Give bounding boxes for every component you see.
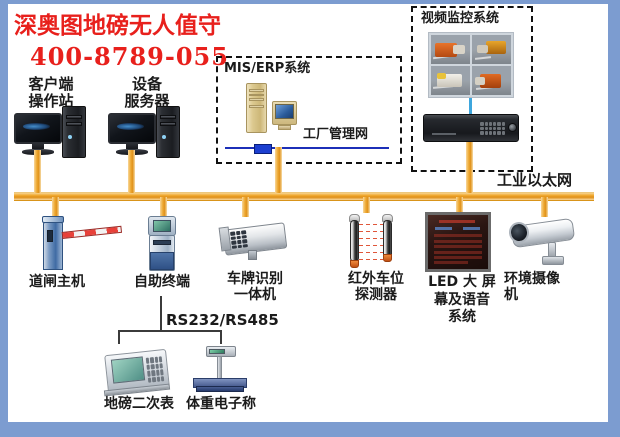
mis-erp-group-label: MIS/ERP系统 xyxy=(224,62,310,77)
platform-scale-icon xyxy=(196,386,244,392)
page-title: 深奥图地磅无人值守 xyxy=(14,14,221,40)
dvr-recorder-icon xyxy=(423,114,519,142)
ir-beam xyxy=(359,252,383,253)
quad-video-monitor-icon xyxy=(428,32,514,98)
ir-beam xyxy=(359,245,383,246)
pc-tower-icon xyxy=(156,106,180,158)
ir-beam xyxy=(359,224,383,225)
video-cell xyxy=(431,35,470,64)
ir-beam xyxy=(359,238,383,239)
video-cell xyxy=(472,35,511,64)
kiosk-screen xyxy=(153,220,171,232)
beige-monitor-base xyxy=(278,125,291,130)
video-surveillance-group-label: 视频监控系统 xyxy=(421,12,499,27)
ir-post-right-foot xyxy=(383,254,392,262)
infrared-detector-icon xyxy=(350,220,359,262)
led-display-icon xyxy=(425,212,491,272)
bullet-camera-base xyxy=(542,256,564,265)
barrier-gate-icon xyxy=(43,222,63,270)
beige-server-tower-icon xyxy=(246,83,267,133)
downlink-lpr-camera xyxy=(242,197,249,217)
lpr-ir-array-icon xyxy=(230,230,248,249)
video-cell xyxy=(472,66,511,95)
industrial-ethernet-bus xyxy=(14,192,594,201)
client-workstation-label: 客户端 操作站 xyxy=(8,76,94,110)
weighbridge-indicator-label: 地磅二次表 xyxy=(96,397,182,413)
lpr-camera-label: 车牌识别 一体机 xyxy=(208,272,302,303)
beige-crt-monitor-icon xyxy=(272,101,297,125)
lpr-camera-mount xyxy=(248,250,257,260)
phone-number: 400-8789-055 xyxy=(30,44,229,71)
video-signal-cable xyxy=(469,98,472,114)
serial-branch-scale xyxy=(220,330,222,344)
kiosk-card-slot xyxy=(153,240,171,245)
diagram-canvas: 深奥图地磅无人值守 400-8789-055 MIS/ERP系统 工厂管理网 视… xyxy=(0,0,620,437)
weighbridge-indicator-screen xyxy=(111,356,145,383)
barrier-gate-panel xyxy=(47,230,53,242)
pc-tower-icon xyxy=(62,106,86,158)
ir-beam xyxy=(359,259,383,260)
video-cell xyxy=(431,66,470,95)
downlink-infrared-detector xyxy=(363,197,370,213)
infrared-detector-label: 红外车位 探测器 xyxy=(330,272,422,303)
ir-post-left-foot xyxy=(350,260,359,268)
uplink-device-server xyxy=(128,150,135,193)
weighbridge-indicator-keypad xyxy=(146,356,165,383)
uplink-video-surveillance xyxy=(466,142,473,193)
self-service-terminal-label: 自助终端 xyxy=(122,275,202,291)
device-server-label: 设备 服务器 xyxy=(104,76,190,110)
serial-bus-label: RS232/RS485 xyxy=(166,312,279,329)
barrier-gate-label: 道闸主机 xyxy=(18,275,96,291)
factory-management-net-line xyxy=(225,147,389,149)
serial-branch-indicator xyxy=(118,330,120,344)
ir-beam xyxy=(359,231,383,232)
downlink-led-display xyxy=(456,197,463,213)
uplink-mis-erp xyxy=(275,147,282,193)
desktop-pc-icon xyxy=(14,113,62,155)
uplink-client-workstation xyxy=(34,150,41,193)
serial-bus-horizontal xyxy=(118,330,222,332)
downlink-self-service-terminal xyxy=(160,197,167,217)
electronic-scale-label: 体重电子称 xyxy=(178,397,264,413)
downlink-environment-camera xyxy=(541,197,548,217)
factory-management-net-label: 工厂管理网 xyxy=(303,128,368,143)
led-display-voice-label: LED 大 屏 幕及语音 系统 xyxy=(424,274,500,327)
industrial-ethernet-label: 工业以太网 xyxy=(497,172,572,189)
factory-net-connector-icon xyxy=(254,144,272,154)
desktop-pc-icon xyxy=(108,113,156,155)
environment-camera-label: 环境摄像 机 xyxy=(504,272,584,303)
serial-bus-vertical xyxy=(160,296,162,332)
kiosk-lower-panel xyxy=(150,252,174,270)
